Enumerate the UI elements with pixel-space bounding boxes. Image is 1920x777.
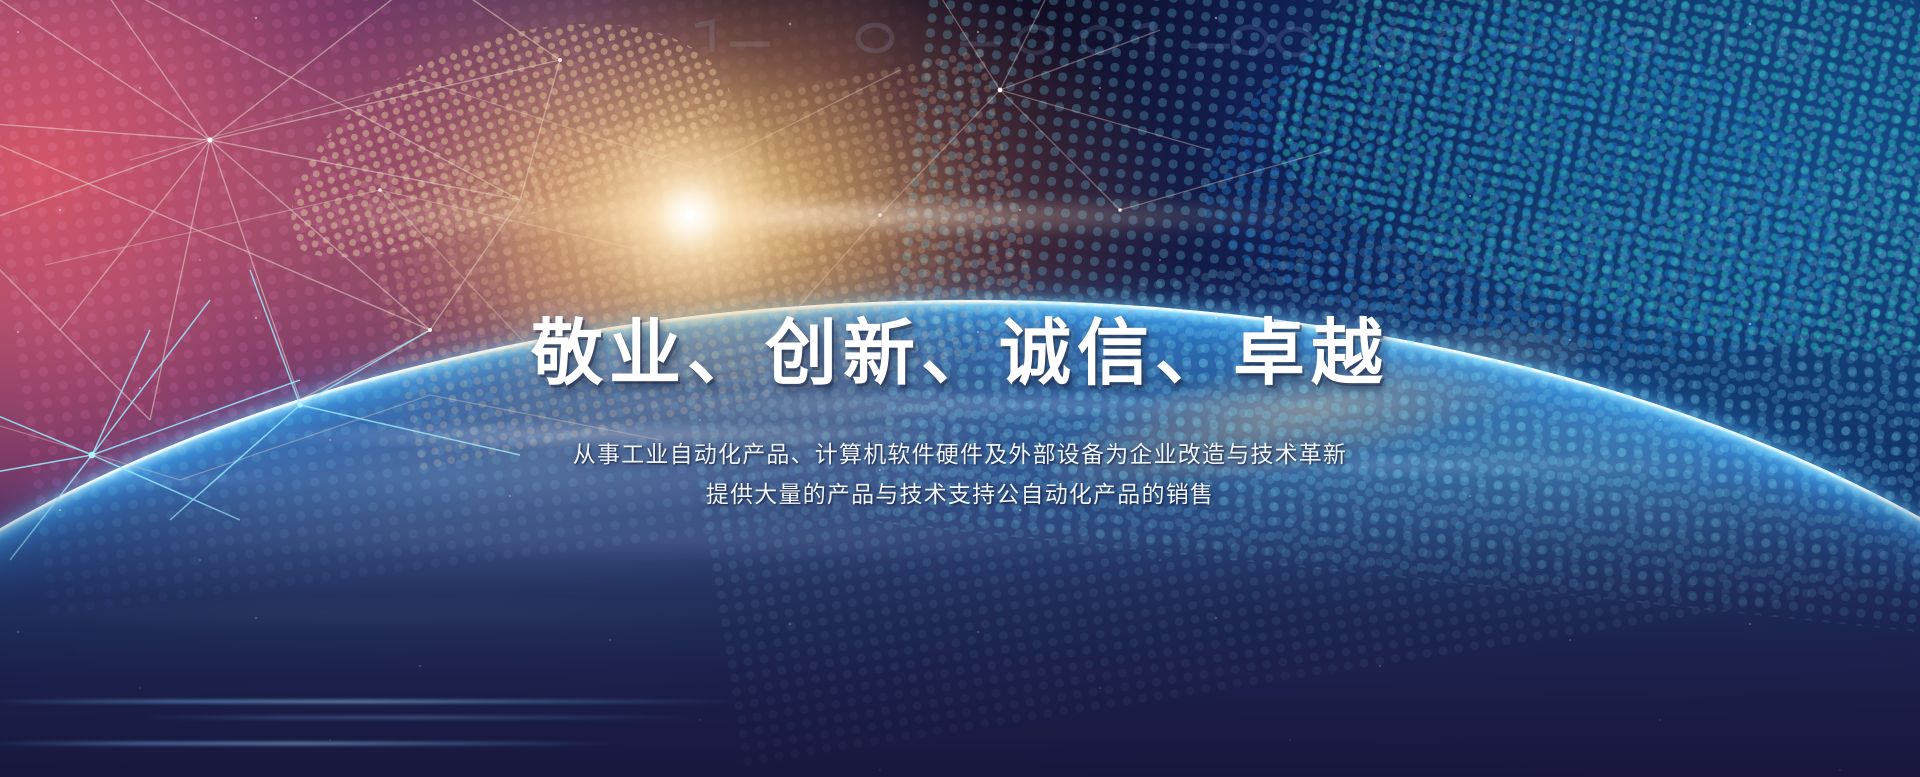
banner-headline: 敬业、创新、诚信、卓越 bbox=[0, 318, 1920, 390]
light-streak bbox=[0, 742, 620, 745]
sun-lens-flare bbox=[250, 205, 1350, 227]
sun-glow bbox=[685, 210, 695, 220]
banner-subtitle-group: 从事工业自动化产品、计算机软件硬件及外部设备为企业改造与技术革新 提供大量的产品… bbox=[0, 434, 1920, 514]
light-streak bbox=[140, 716, 700, 719]
banner-subtitle-line-2: 提供大量的产品与技术支持公自动化产品的销售 bbox=[0, 474, 1920, 514]
bottom-vignette bbox=[0, 477, 1920, 777]
banner-copy: 敬业、创新、诚信、卓越 从事工业自动化产品、计算机软件硬件及外部设备为企业改造与… bbox=[0, 318, 1920, 514]
light-streak bbox=[0, 700, 740, 703]
banner-subtitle-line-1: 从事工业自动化产品、计算机软件硬件及外部设备为企业改造与技术革新 bbox=[0, 434, 1920, 474]
hero-banner: 敬业、创新、诚信、卓越 从事工业自动化产品、计算机软件硬件及外部设备为企业改造与… bbox=[0, 0, 1920, 777]
